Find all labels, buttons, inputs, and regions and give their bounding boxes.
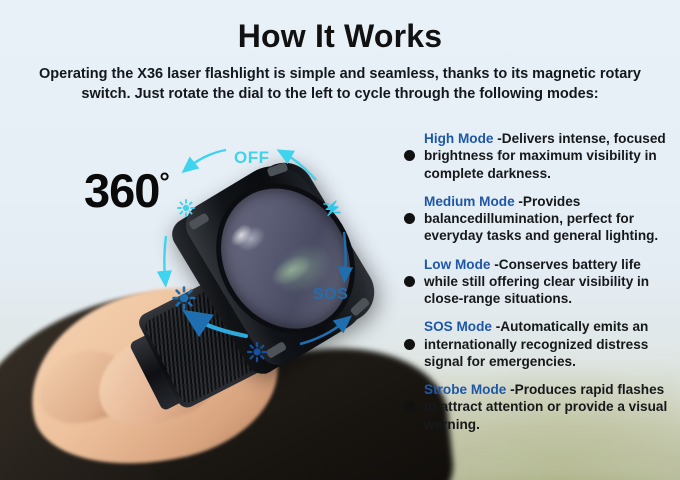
bezel-notch-icon	[265, 341, 287, 359]
bullet-icon	[404, 339, 415, 350]
bullet-icon	[404, 213, 415, 224]
bezel-notch-icon	[188, 212, 210, 230]
list-item: SOS Mode -Automatically emits an interna…	[404, 318, 672, 370]
dial-label-sos: SOS	[313, 286, 348, 304]
mode-text: Strobe Mode -Produces rapid flashes to a…	[424, 381, 672, 433]
list-item: Medium Mode -Provides balancedilluminati…	[404, 193, 672, 245]
list-item: Strobe Mode -Produces rapid flashes to a…	[404, 381, 672, 433]
degree-symbol: °	[159, 166, 168, 196]
mode-list: High Mode -Delivers intense, focused bri…	[404, 130, 672, 444]
bullet-icon	[404, 150, 415, 161]
mode-text: SOS Mode -Automatically emits an interna…	[424, 318, 672, 370]
mode-name: SOS Mode	[424, 319, 492, 334]
mode-name: Strobe Mode	[424, 382, 506, 397]
list-item: Low Mode -Conserves battery life while s…	[404, 256, 672, 308]
rotation-degree-label: 360°	[84, 163, 169, 218]
bezel-notch-icon	[267, 162, 289, 177]
mode-name: Low Mode	[424, 257, 490, 272]
bullet-icon	[404, 276, 415, 287]
mode-text: Medium Mode -Provides balancedilluminati…	[424, 193, 672, 245]
bullet-icon	[404, 401, 415, 412]
dial-label-off: OFF	[234, 148, 270, 168]
mode-text: High Mode -Delivers intense, focused bri…	[424, 130, 672, 182]
list-item: High Mode -Delivers intense, focused bri…	[404, 130, 672, 182]
page-subtitle: Operating the X36 laser flashlight is si…	[34, 64, 646, 104]
mode-name: High Mode	[424, 131, 493, 146]
rotation-value: 360	[84, 164, 159, 217]
page-title: How It Works	[0, 18, 680, 55]
mode-name: Medium Mode	[424, 194, 515, 209]
infographic-canvas: OFF SOS 360° How It Works Operating the …	[0, 0, 680, 480]
mode-text: Low Mode -Conserves battery life while s…	[424, 256, 672, 308]
